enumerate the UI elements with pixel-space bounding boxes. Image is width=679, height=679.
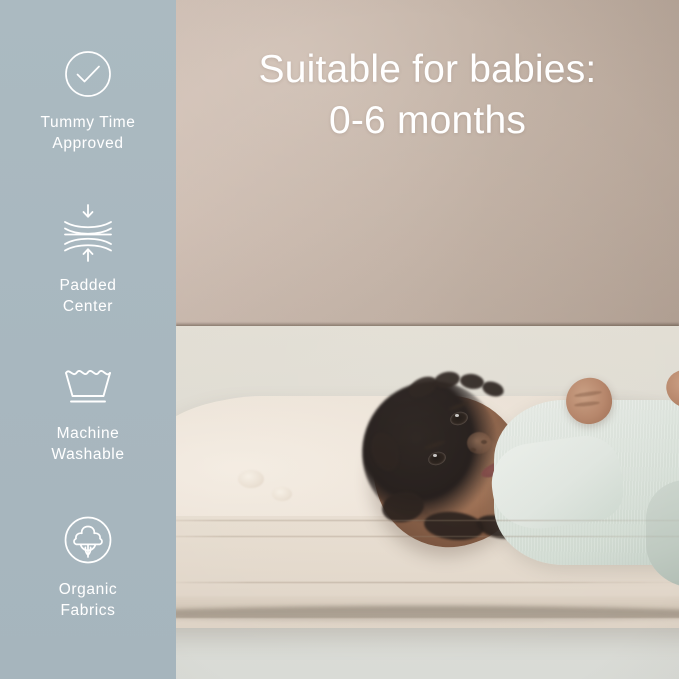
feature-organic-fabrics: Organic Fabrics [0,513,176,621]
feature-label: Machine Washable [51,424,124,465]
feature-label: Padded Center [59,276,116,317]
feature-machine-washable: Machine Washable [0,365,176,465]
mattress-drop-shadow [176,606,679,622]
baby-nostril [481,440,487,444]
mattress-tuft [272,487,292,501]
product-feature-graphic: Suitable for babies: 0-6 months Tummy Ti… [0,0,679,679]
baby-eye-glint [433,454,437,457]
headline-line-1: Suitable for babies: [176,44,679,95]
headline-line-2: 0-6 months [176,95,679,146]
feature-sidebar: Tummy Time Approved Padded Center [0,0,176,679]
cotton-boll-icon [61,513,115,567]
baby-nostril [470,448,476,452]
padded-cushion-icon [57,203,119,263]
feature-label: Tummy Time Approved [41,113,136,154]
baby-eye-glint [455,414,459,417]
feature-label: Organic Fabrics [59,580,117,621]
machine-wash-icon [60,365,116,411]
feature-tummy-time-approved: Tummy Time Approved [0,48,176,154]
feature-padded-center: Padded Center [0,203,176,317]
mattress-tuft [238,470,264,488]
headline: Suitable for babies: 0-6 months [176,44,679,146]
check-circle-icon [62,48,114,100]
mattress-seam [176,536,679,537]
mattress-seam [176,520,679,521]
